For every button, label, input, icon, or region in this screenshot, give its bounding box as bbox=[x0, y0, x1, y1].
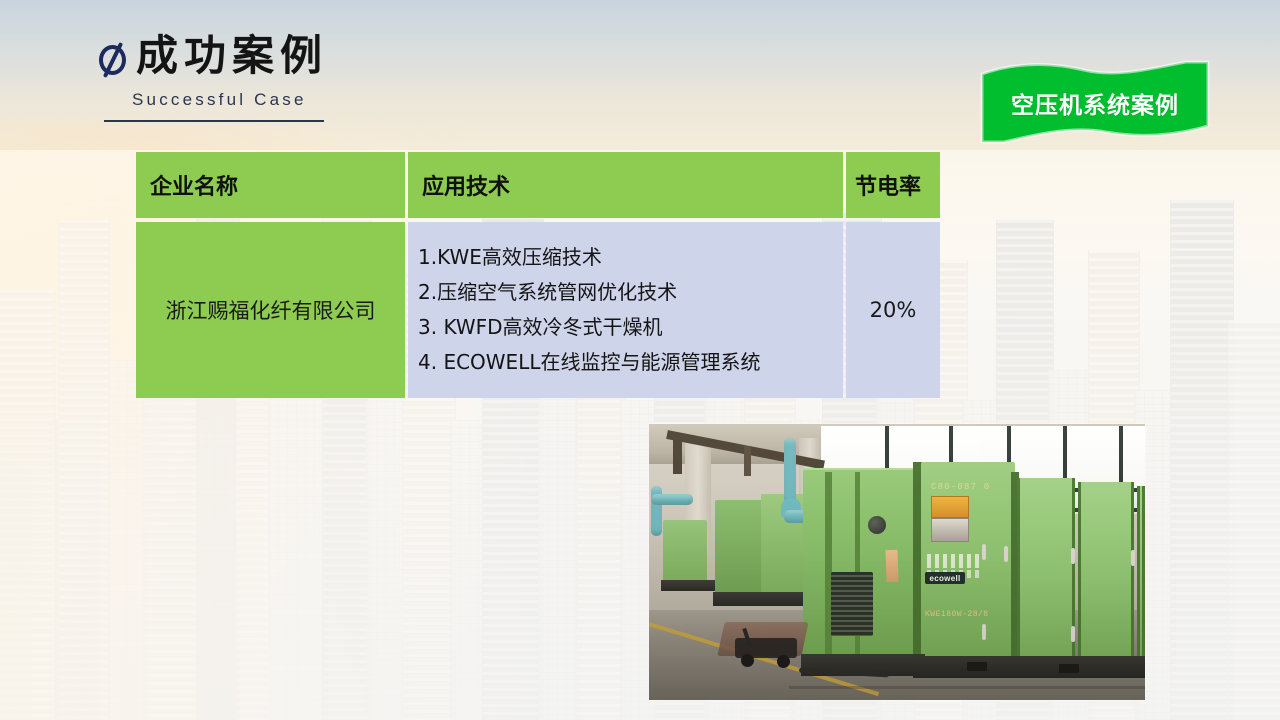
page-title-block: 成功案例 Successful Case bbox=[96, 34, 328, 122]
banner-label: 空压机系统案例 bbox=[976, 60, 1214, 144]
table-header-saving: 节电率 bbox=[846, 152, 940, 218]
page-title: 成功案例 bbox=[136, 34, 328, 78]
table-row: 浙江赐福化纤有限公司 1.KWE高效压缩技术 2.压缩空气系统管网优化技术 3.… bbox=[136, 222, 940, 398]
technology-item-2: 2.压缩空气系统管网优化技术 bbox=[418, 281, 843, 304]
slashed-circle-icon bbox=[96, 41, 130, 75]
technology-item-1: 1.KWE高效压缩技术 bbox=[418, 246, 843, 269]
page-subtitle: Successful Case bbox=[132, 90, 328, 110]
section-banner: 空压机系统案例 bbox=[976, 60, 1214, 144]
cell-saving-rate: 20% bbox=[846, 222, 940, 398]
title-underline bbox=[104, 120, 324, 122]
air-compressor-room-photo: C80-087 0 ecowell KWE180W-28/8 bbox=[649, 424, 1145, 700]
table-header-row: 企业名称 应用技术 节电率 bbox=[136, 152, 940, 218]
table-header-company: 企业名称 bbox=[136, 152, 405, 218]
technology-item-3: 3. KWFD高效冷冬式干燥机 bbox=[418, 316, 843, 339]
case-table: 企业名称 应用技术 节电率 浙江赐福化纤有限公司 1.KWE高效压缩技术 2.压… bbox=[136, 152, 940, 398]
cell-company-name: 浙江赐福化纤有限公司 bbox=[136, 222, 405, 398]
slide-canvas: 成功案例 Successful Case 空压机系统案例 企业名称 应用技术 节… bbox=[0, 0, 1280, 720]
technology-item-4: 4. ECOWELL在线监控与能源管理系统 bbox=[418, 351, 843, 374]
cell-technologies: 1.KWE高效压缩技术 2.压缩空气系统管网优化技术 3. KWFD高效冷冬式干… bbox=[408, 222, 843, 398]
table-header-technology: 应用技术 bbox=[408, 152, 843, 218]
